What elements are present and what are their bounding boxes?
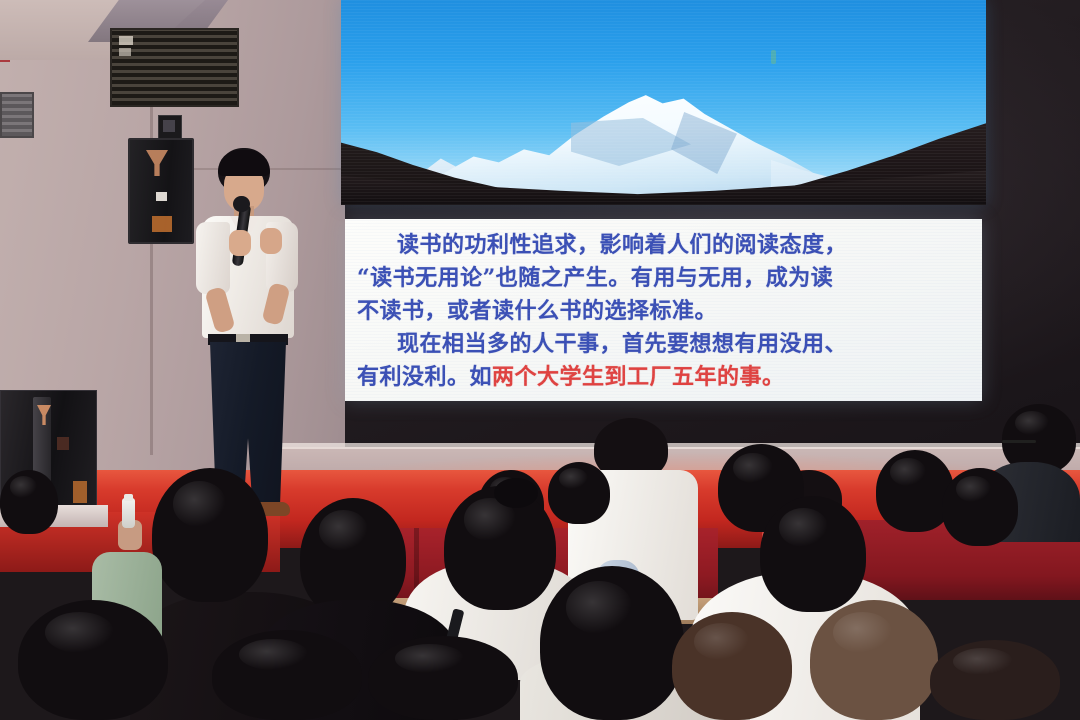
audience-head	[444, 486, 556, 610]
audience-head	[760, 496, 866, 612]
audience-head	[0, 470, 58, 534]
screenshot-root: 读书的功利性追求，影响着人们的阅读态度， “读书无用论”也随之产生。有用与无用，…	[0, 0, 1080, 720]
audience-head	[368, 636, 518, 720]
audience-head	[930, 640, 1060, 720]
water-bottle	[122, 498, 135, 528]
audience-head	[672, 612, 792, 720]
audience-head	[548, 462, 610, 524]
audience-head	[942, 468, 1018, 546]
audience-head	[540, 566, 684, 720]
audience	[0, 0, 1080, 720]
water-bottle-cap	[124, 494, 133, 501]
audience-head	[152, 468, 268, 602]
eyeglasses-icon	[1002, 440, 1036, 443]
audience-hair-bun	[494, 478, 538, 508]
audience-head	[810, 600, 938, 720]
audience-head	[212, 630, 362, 720]
audience-head	[18, 600, 168, 720]
